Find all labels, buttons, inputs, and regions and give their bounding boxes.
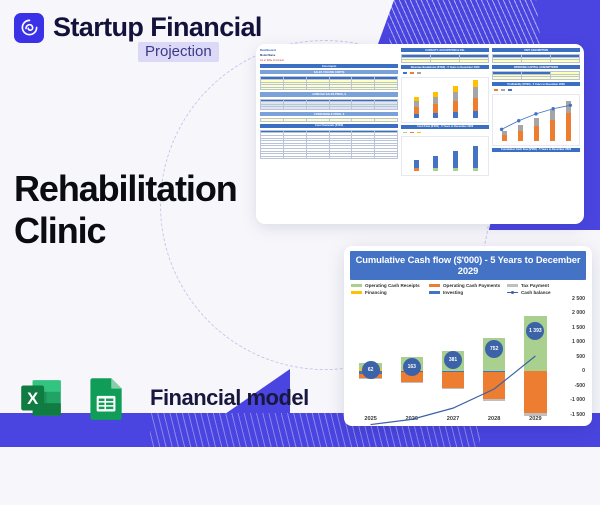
y-axis-tick: 500 bbox=[576, 354, 585, 360]
dashboard-preview-model-name: Model Name bbox=[260, 54, 398, 57]
dashboard-preview-link[interactable]: Go to Table of Content bbox=[260, 59, 398, 62]
google-sheets-icon bbox=[80, 373, 130, 423]
legend-label-operating-cash-payments: Operating Cash Payments bbox=[443, 283, 500, 288]
legend-swatch-cash-balance bbox=[507, 291, 518, 294]
y-axis-tick: 1 500 bbox=[572, 325, 585, 331]
cash-balance-point-label: 163 bbox=[403, 358, 421, 376]
financial-model-label: Financial model bbox=[150, 385, 309, 411]
legend-swatch-operating-cash-receipts bbox=[351, 284, 362, 287]
page-title-line-1: Rehabilitation bbox=[14, 168, 237, 210]
dashboard-chart-profitability bbox=[492, 94, 580, 146]
dashboard-section-sales-volume: SALES VOLUME (UNITS) bbox=[260, 70, 398, 74]
y-axis-tick: 2 000 bbox=[572, 310, 585, 316]
legend-item-cash-balance[interactable]: Cash balance bbox=[507, 290, 585, 295]
legend-swatch-investing bbox=[429, 291, 440, 294]
dashboard-section-core-inputs: Core Inputs bbox=[260, 64, 398, 68]
y-axis-tick: -500 bbox=[575, 383, 585, 389]
svg-text:X: X bbox=[27, 389, 38, 408]
dashboard-chart-legend-revenue bbox=[401, 71, 489, 74]
page-title: Rehabilitation Clinic bbox=[14, 168, 237, 252]
dashboard-table-sales-volume bbox=[260, 76, 398, 90]
financial-model-row: X Financial model bbox=[16, 373, 309, 423]
dashboard-table-capacity bbox=[401, 54, 489, 63]
legend-item-investing[interactable]: Investing bbox=[429, 290, 507, 295]
dashboard-table-working-capital bbox=[492, 71, 580, 80]
dashboard-table-unit-assumption bbox=[492, 54, 580, 63]
dashboard-section-cash-flow: Cash Flow ($'000) - 5 Years to December … bbox=[401, 125, 489, 129]
chart-y-axis: 2 5002 0001 5001 0005000-500-1 000-1 500 bbox=[556, 299, 586, 416]
legend-item-operating-cash-receipts[interactable]: Operating Cash Receipts bbox=[351, 283, 429, 288]
dashboard-table-avg-price bbox=[260, 99, 398, 110]
dashboard-chart-legend-cashflow bbox=[401, 131, 489, 134]
dashboard-preview-title: Dashboard bbox=[260, 48, 398, 52]
dashboard-section-consumable-price: CONSUMABLE PRICE, $ bbox=[260, 112, 398, 116]
chart-legend: Operating Cash Receipts Operating Cash P… bbox=[350, 283, 586, 297]
legend-swatch-financing bbox=[351, 291, 362, 294]
logo-swirl-icon bbox=[14, 13, 44, 43]
dashboard-section-revenue-breakdown: Revenue Breakdown ($'000) - 5 Years to D… bbox=[401, 65, 489, 69]
y-axis-tick: 1 000 bbox=[572, 339, 585, 345]
microsoft-excel-icon: X bbox=[16, 373, 66, 423]
chart-plot-area: 621633817521 393 2 5002 0001 5001 000500… bbox=[350, 299, 586, 416]
y-axis-tick: 2 500 bbox=[572, 296, 585, 302]
chart-title: Cumulative Cash flow ($'000) - 5 Years t… bbox=[350, 251, 586, 280]
cash-balance-point-label: 62 bbox=[362, 361, 380, 379]
legend-label-tax-payment: Tax Payment bbox=[521, 283, 549, 288]
legend-item-operating-cash-payments[interactable]: Operating Cash Payments bbox=[429, 283, 507, 288]
dashboard-section-core-financials: Core Financials ($'000) bbox=[260, 124, 398, 128]
dashboard-chart-profitability-line bbox=[493, 95, 579, 140]
dashboard-chart-legend-profitability bbox=[492, 88, 580, 91]
page-title-line-2: Clinic bbox=[14, 210, 237, 252]
dashboard-section-profitability: Profitability ($'000) - 5 Years to Decem… bbox=[492, 82, 580, 86]
dashboard-table-consumable-price bbox=[260, 118, 398, 122]
dashboard-section-unit-assumption: UNIT ASSUMPTION bbox=[492, 48, 580, 52]
brand-header: Startup Financial bbox=[14, 12, 262, 43]
y-axis-tick: -1 500 bbox=[570, 412, 585, 418]
dashboard-chart-cash-flow bbox=[401, 136, 489, 176]
cash-balance-line bbox=[350, 299, 556, 505]
dashboard-section-capacity: CAPACITY, OCCUPATION & P&L bbox=[401, 48, 489, 52]
legend-swatch-operating-cash-payments bbox=[429, 284, 440, 287]
legend-label-financing: Financing bbox=[365, 290, 387, 295]
legend-label-investing: Investing bbox=[443, 290, 463, 295]
dashboard-section-avg-price: AVERAGE SALES PRICE, $ bbox=[260, 92, 398, 96]
cumulative-cash-flow-chart-card[interactable]: Cumulative Cash flow ($'000) - 5 Years t… bbox=[344, 246, 592, 426]
brand-subtitle: Projection bbox=[138, 42, 219, 62]
y-axis-tick: -1 000 bbox=[570, 397, 585, 403]
legend-item-financing[interactable]: Financing bbox=[351, 290, 429, 295]
legend-swatch-tax-payment bbox=[507, 284, 518, 287]
legend-label-operating-cash-receipts: Operating Cash Receipts bbox=[365, 283, 420, 288]
y-axis-tick: 0 bbox=[582, 368, 585, 374]
dashboard-section-cumulative: Cumulative Cash flow ($'000) - 5 Years t… bbox=[492, 148, 580, 152]
dashboard-section-working-capital: WORKING CAPITAL ASSUMPTIONS bbox=[492, 65, 580, 69]
legend-item-tax-payment[interactable]: Tax Payment bbox=[507, 283, 585, 288]
dashboard-preview-card[interactable]: Dashboard Model Name Go to Table of Cont… bbox=[256, 44, 584, 224]
brand-name: Startup Financial bbox=[53, 12, 262, 43]
chart-plot: 621633817521 393 bbox=[350, 299, 556, 416]
legend-label-cash-balance: Cash balance bbox=[521, 290, 551, 295]
dashboard-table-core-financials bbox=[260, 130, 398, 160]
dashboard-chart-revenue-breakdown bbox=[401, 77, 489, 123]
